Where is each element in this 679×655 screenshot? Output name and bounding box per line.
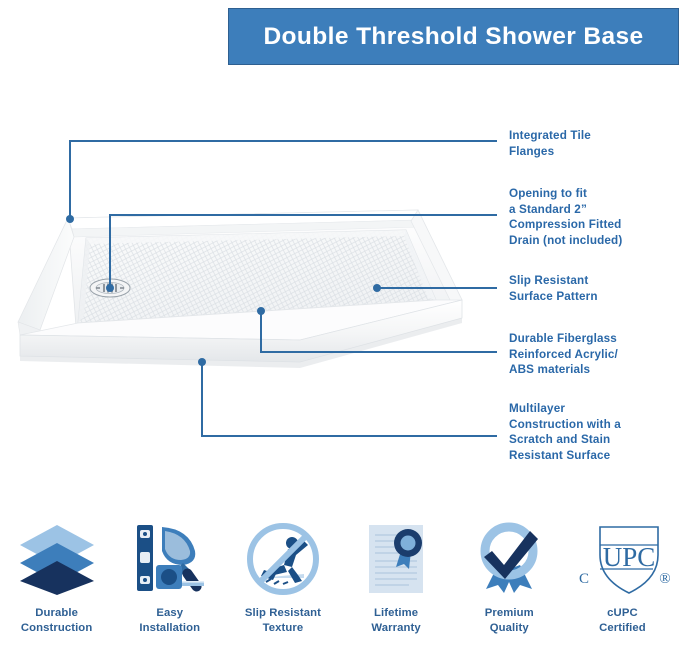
feature-premium-quality: Premium Quality <box>453 518 566 655</box>
upc-registered-mark: ® <box>660 571 671 587</box>
feature-lifetime-warranty: Lifetime Warranty <box>340 518 453 655</box>
feature-label: Durable Construction <box>21 606 93 635</box>
header-banner: Double Threshold Shower Base <box>228 8 679 65</box>
feature-label: Easy Installation <box>139 606 200 635</box>
feature-label: cUPC Certified <box>599 606 646 635</box>
callout-drain-opening: Opening to fit a Standard 2” Compression… <box>509 186 622 248</box>
feature-label: Lifetime Warranty <box>371 606 420 635</box>
page-title: Double Threshold Shower Base <box>263 23 643 51</box>
stacked-layers-icon <box>16 518 98 602</box>
level-trowel-tape-icon <box>129 518 211 602</box>
callout-slip-resistant-surface: Slip Resistant Surface Pattern <box>509 273 598 304</box>
feature-badges-row: Durable Construction <box>0 518 679 655</box>
feature-label: Premium Quality <box>485 606 534 635</box>
callout-integrated-tile-flanges: Integrated Tile Flanges <box>509 128 591 159</box>
callout-durable-fiberglass: Durable Fiberglass Reinforced Acrylic/ A… <box>509 331 618 378</box>
upc-shield-text: UPC <box>603 542 656 572</box>
checkmark-rosette-icon <box>468 518 550 602</box>
feature-durable-construction: Durable Construction <box>0 518 113 655</box>
no-slip-icon <box>242 518 324 602</box>
certificate-ribbon-icon <box>355 518 437 602</box>
shower-base-illustration <box>0 180 470 410</box>
feature-cupc-certified: UPC C ® cUPC Certified <box>566 518 679 655</box>
drain-cover <box>90 279 130 297</box>
callout-multilayer-construction: Multilayer Construction with a Scratch a… <box>509 401 621 463</box>
feature-slip-resistant-texture: Slip Resistant Texture <box>226 518 339 655</box>
upc-shield-icon: UPC C ® <box>574 518 670 602</box>
feature-label: Slip Resistant Texture <box>245 606 321 635</box>
upc-left-mark: C <box>579 571 589 587</box>
feature-easy-installation: Easy Installation <box>113 518 226 655</box>
left-threshold-wall <box>18 218 74 330</box>
